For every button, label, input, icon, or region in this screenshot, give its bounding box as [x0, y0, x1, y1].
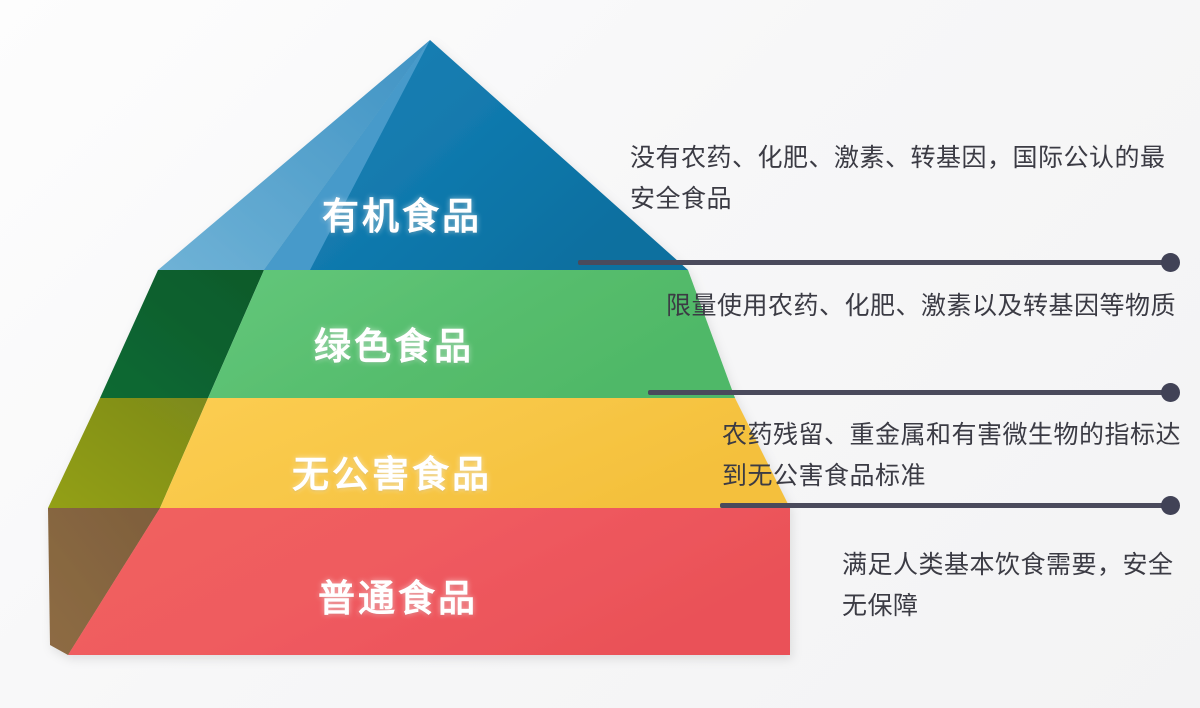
description-ordinary: 满足人类基本饮食需要，安全无保障: [842, 545, 1192, 627]
tier-label-ordinary: 普通食品: [318, 568, 478, 622]
tier-label-organic: 有机食品: [322, 186, 482, 240]
tier-label-pollution-free: 无公害食品: [292, 444, 492, 498]
description-organic: 没有农药、化肥、激素、转基因，国际公认的最安全食品: [630, 138, 1190, 220]
tier-label-green: 绿色食品: [314, 316, 474, 370]
diagram-canvas: 有机食品 绿色食品 无公害食品 普通食品 没有农药、化肥、激素、转基因，国际公认…: [0, 0, 1200, 708]
description-pollution-free: 农药残留、重金属和有害微生物的指标达到无公害食品标准: [722, 415, 1192, 497]
connector-line-2: [648, 390, 1170, 395]
connector-dot-1: [1161, 253, 1180, 272]
connector-dot-2: [1161, 383, 1180, 402]
connector-dot-3: [1161, 496, 1180, 515]
connector-line-3: [720, 503, 1170, 508]
connector-line-1: [578, 260, 1170, 265]
description-green: 限量使用农药、化肥、激素以及转基因等物质: [666, 286, 1190, 327]
